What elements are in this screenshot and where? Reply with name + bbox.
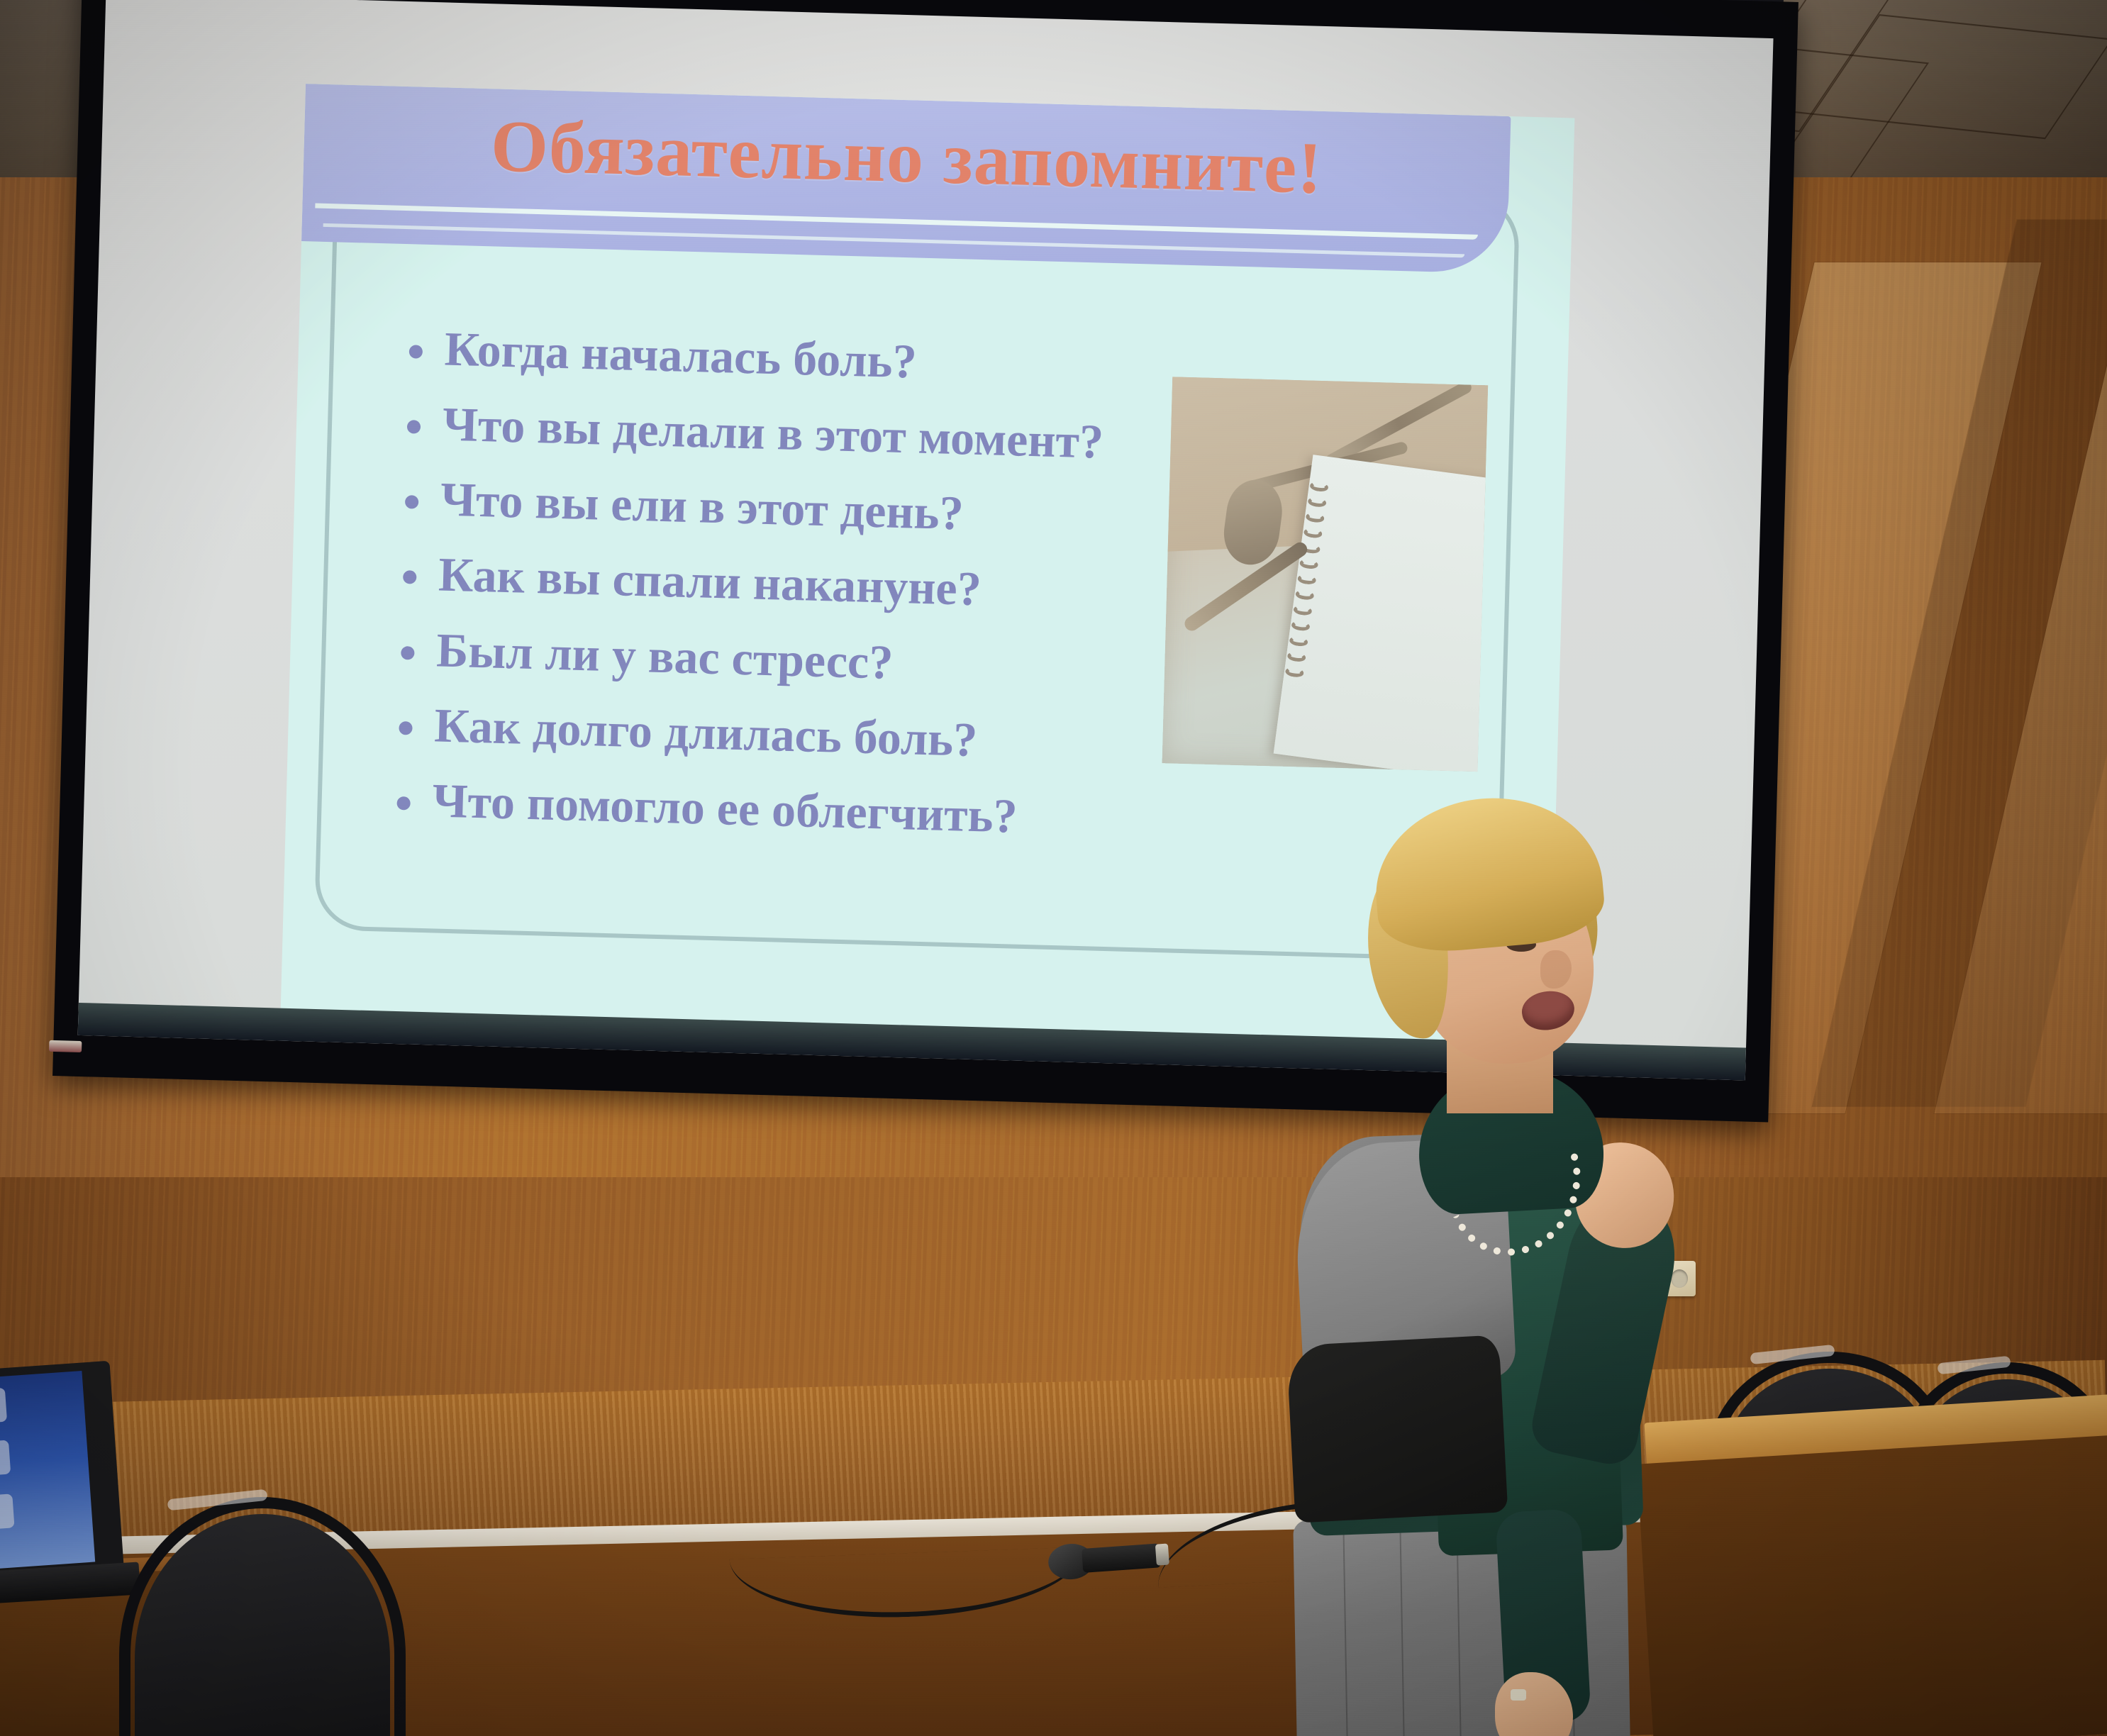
list-item: Как долго длилась боль?: [394, 697, 1211, 773]
screen-pull-knob[interactable]: [49, 1040, 82, 1052]
slide-title: Обязательно запомните!: [303, 102, 1510, 212]
ring: [1511, 1689, 1526, 1701]
lecture-hall-photo: Обязательно запомните! Когда началась бо…: [0, 0, 2107, 1736]
slide-header-banner: Обязательно запомните!: [301, 84, 1511, 274]
list-item: Был ли у вас стресс?: [396, 622, 1213, 698]
laptop-screen: [0, 1371, 95, 1571]
slide-bullet-list: Когда началась боль? Что вы делали в это…: [391, 321, 1221, 869]
list-item: Как вы спали накануне?: [398, 546, 1215, 622]
spiral-notebook-and-pens-photo: [1162, 377, 1489, 772]
hair-fringe: [1368, 789, 1607, 957]
chair[interactable]: [135, 1514, 390, 1736]
sleeve: [1286, 1335, 1508, 1523]
list-item: Что помогло ее облегчить?: [392, 772, 1209, 848]
list-item: Что вы делали в этот момент?: [402, 396, 1219, 472]
presenter: [1269, 801, 1723, 1736]
list-item: Что вы ели в этот день?: [400, 471, 1217, 547]
laptop[interactable]: [0, 1365, 128, 1610]
wooden-desk: [1674, 1408, 2107, 1736]
